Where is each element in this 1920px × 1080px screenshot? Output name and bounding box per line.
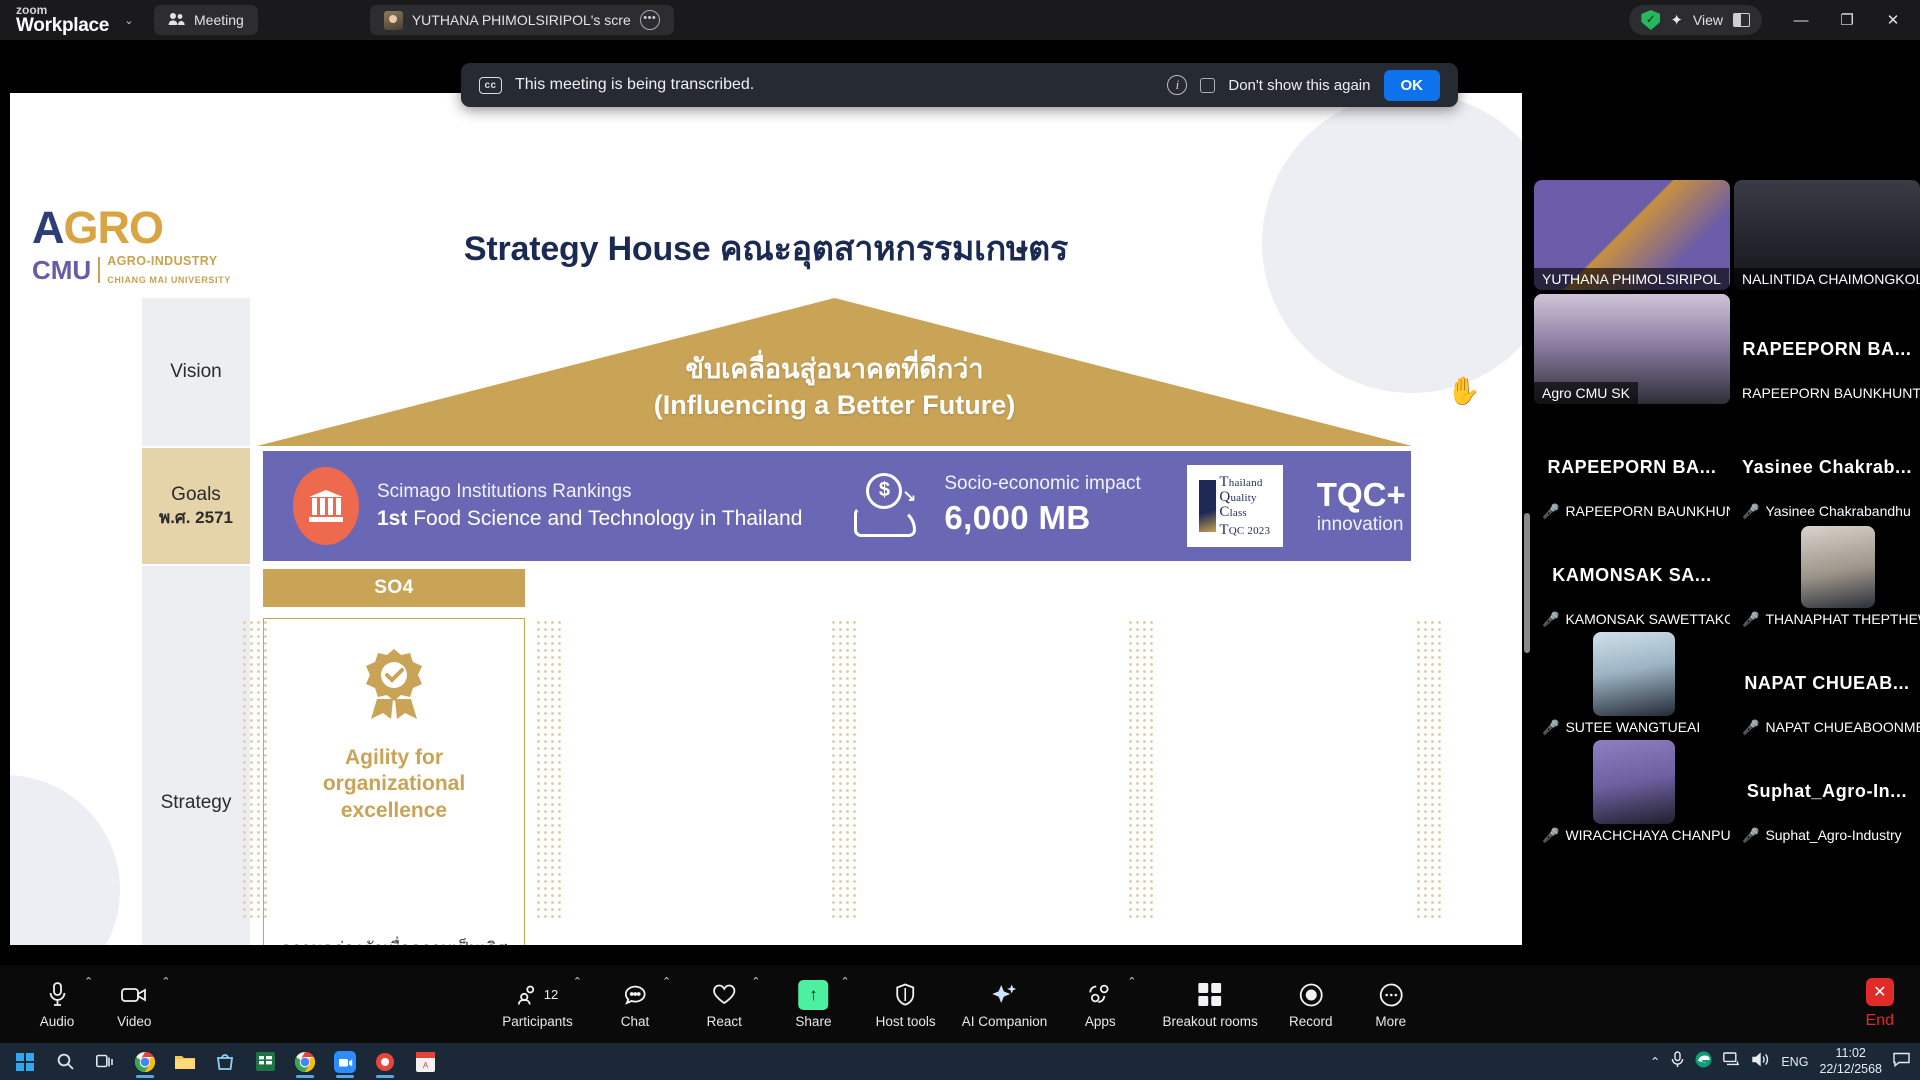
tab-screen-share[interactable]: YUTHANA PHIMOLSIRIPOL's scre ••• [370, 5, 674, 35]
goal-scimago-rank: 1st [377, 507, 407, 530]
mic-off-icon-6: 🎤 [1542, 612, 1559, 626]
participant-video-panel[interactable]: YUTHANA PHIMOLSIRIPOL NALINTIDA CHAIMONG… [1534, 180, 1920, 950]
clock-date: 22/12/2568 [1819, 1062, 1882, 1076]
strategy-column-so4: SO4 Agility for organizational excellenc… [263, 569, 525, 945]
participant-name-label-5: Yasinee Chakrabandhu [1765, 503, 1910, 519]
so4-description: ความคล่องตัวเพื่อความเป็นเลิศขององค์กร [278, 937, 510, 945]
heart-icon [712, 980, 736, 1010]
audio-label: Audio [40, 1014, 75, 1029]
logo-cmu-text: CMU [32, 257, 91, 283]
language-indicator[interactable]: ENG [1781, 1055, 1808, 1069]
mic-off-icon-4: 🎤 [1542, 504, 1559, 518]
participant-name-4: 🎤 RAPEEPORN BAUNKHUNT... [1534, 500, 1730, 522]
participants-button[interactable]: 12 Participants [502, 969, 573, 1039]
presentation-slide: AGRO CMU AGRO-INDUSTRY CHIANG MAI UNIVER… [10, 93, 1522, 945]
host-tools-label: Host tools [876, 1014, 936, 1029]
restore-button[interactable]: ❐ [1824, 0, 1870, 40]
toast-message: This meeting is being transcribed. [515, 76, 754, 94]
record-circle-icon [1299, 980, 1323, 1010]
screen-share-avatar [384, 11, 403, 30]
shield-check-icon[interactable] [1641, 10, 1660, 30]
tray-chevron-up-icon[interactable]: ⌃ [1650, 1054, 1660, 1069]
breakout-rooms-button[interactable]: Breakout rooms [1162, 969, 1257, 1039]
mic-off-icon-11: 🎤 [1742, 828, 1759, 842]
stage-scrollbar[interactable] [1524, 513, 1530, 653]
audio-chevron-up-icon[interactable]: ⌃ [84, 975, 93, 988]
zoom-logo: zoom Workplace [16, 4, 108, 37]
goal-tqc-plus-title: TQC+ [1317, 476, 1406, 514]
react-chevron-up-icon[interactable]: ⌃ [751, 975, 760, 988]
apps-chevron-up-icon[interactable]: ⌃ [1127, 975, 1136, 988]
ellipsis-icon [1379, 980, 1403, 1010]
chat-chevron-up-icon[interactable]: ⌃ [662, 975, 671, 988]
react-button[interactable]: React [697, 969, 751, 1039]
shared-screen-stage[interactable]: AGRO CMU AGRO-INDUSTRY CHIANG MAI UNIVER… [10, 93, 1522, 945]
share-chevron-up-icon[interactable]: ⌃ [840, 975, 849, 988]
share-button[interactable]: ↑ Share [786, 969, 840, 1039]
transcription-notification: cc This meeting is being transcribed. i … [461, 63, 1458, 107]
slide-title: Strategy House คณะอุตสาหกรรมเกษตร [10, 221, 1522, 275]
excel-icon[interactable] [248, 1046, 282, 1077]
chrome-window-icon[interactable] [288, 1046, 322, 1077]
zoom-icon[interactable] [328, 1046, 362, 1077]
tqc-badge-line2: Quality [1219, 490, 1270, 505]
so4-title: Agility for organizational excellence [278, 745, 510, 824]
close-button[interactable]: ✕ [1870, 0, 1916, 40]
grid-squares-icon [1199, 980, 1222, 1010]
so4-code: SO4 [263, 569, 525, 607]
goals-word: Goals [171, 482, 221, 508]
video-button[interactable]: Video [107, 969, 161, 1039]
more-label: More [1375, 1014, 1406, 1029]
participant-tile-0[interactable]: YUTHANA PHIMOLSIRIPOL [1534, 180, 1730, 290]
people-icon [168, 12, 185, 29]
goal-socio-economic: $↘ Socio-economic impact 6,000 MB [854, 472, 1140, 540]
apps-icon [1088, 980, 1112, 1010]
end-meeting-button[interactable]: ✕ End [1866, 978, 1894, 1030]
goal-scimago-field: Food Science and Technology in Thailand [413, 507, 802, 530]
record-button[interactable]: Record [1284, 969, 1338, 1039]
mic-off-icon-5: 🎤 [1742, 504, 1759, 518]
more-button[interactable]: More [1364, 969, 1418, 1039]
participant-name-0: YUTHANA PHIMOLSIRIPOL [1534, 268, 1729, 290]
audio-button[interactable]: Audio [30, 969, 84, 1039]
tqc-badge-line1: Thailand [1219, 475, 1270, 490]
search-icon[interactable] [48, 1046, 82, 1077]
pdf-icon[interactable]: A [408, 1046, 442, 1077]
clock[interactable]: 11:02 22/12/2568 [1819, 1046, 1882, 1077]
edge-icon[interactable] [1695, 1051, 1712, 1073]
hand-cursor-icon: ✋ [1447, 375, 1481, 407]
participant-avatar-8 [1593, 632, 1675, 716]
participant-name-6: 🎤 KAMONSAK SAWETTAKOON [1534, 608, 1730, 630]
minimize-button[interactable]: — [1778, 0, 1824, 40]
brand-chevron-down-icon[interactable]: ⌄ [114, 5, 144, 35]
breakout-rooms-label: Breakout rooms [1162, 1014, 1257, 1029]
host-tools-button[interactable]: Host tools [876, 969, 936, 1039]
tab-screen-share-label: YUTHANA PHIMOLSIRIPOL's scre [412, 12, 631, 28]
ai-companion-label: AI Companion [962, 1014, 1048, 1029]
chat-bubble-icon [624, 980, 646, 1010]
participant-name-label-11: Suphat_Agro-Industry [1765, 827, 1901, 843]
chrome-icon[interactable] [128, 1046, 162, 1077]
agro-cmu-logo: AGRO CMU AGRO-INDUSTRY CHIANG MAI UNIVER… [32, 205, 231, 289]
tqc-badge-line3: Class [1219, 505, 1270, 520]
participant-name-7: 🎤 THANAPHAT THEPTHEWIN [1734, 608, 1920, 630]
tab-more-options-icon[interactable]: ••• [640, 10, 660, 30]
windows-taskbar: A ⌃ ENG 11:02 22/12/2568 [0, 1043, 1920, 1080]
participant-tile-6[interactable]: KAMONSAK SA... 🎤 KAMONSAK SAWETTAKOON [1534, 520, 1730, 630]
mic-off-icon-10: 🎤 [1542, 828, 1559, 842]
volume-icon[interactable] [1752, 1052, 1770, 1072]
participant-tile-2[interactable]: Agro CMU SK [1534, 294, 1730, 404]
camera-icon [121, 980, 147, 1010]
brand-line-workplace: Workplace [16, 16, 108, 36]
participant-name-1: NALINTIDA CHAIMONGKOL [1734, 268, 1920, 290]
goals-band: Scimago Institutions Rankings 1st Food S… [263, 451, 1411, 561]
video-label: Video [117, 1014, 151, 1029]
network-icon[interactable] [1723, 1052, 1741, 1072]
info-icon[interactable]: i [1167, 75, 1187, 95]
file-explorer-icon[interactable] [168, 1046, 202, 1077]
store-icon[interactable] [208, 1046, 242, 1077]
zoom-title-bar: zoom Workplace ⌄ Meeting YUTHANA PHIMOLS… [0, 0, 1920, 40]
chat-button[interactable]: Chat [608, 969, 662, 1039]
goal-impact-label: Socio-economic impact [944, 473, 1140, 494]
view-layout-icon[interactable] [1733, 13, 1750, 27]
share-label: Share [795, 1014, 831, 1029]
participant-tile-10[interactable]: 🎤 WIRACHCHAYA CHANPUYP... [1534, 736, 1730, 846]
row-label-strategy: Strategy [142, 566, 250, 945]
dot-pattern-3 [1127, 619, 1153, 919]
participant-name-5: 🎤 Yasinee Chakrabandhu [1734, 500, 1919, 522]
ai-companion-button[interactable]: AI Companion [962, 969, 1048, 1039]
share-screen-icon: ↑ [798, 980, 828, 1010]
notification-center-icon[interactable] [1893, 1052, 1910, 1072]
dot-pattern-2 [830, 619, 856, 919]
shield-icon [896, 980, 916, 1010]
goal-tqc-plus-subtitle: innovation [1317, 514, 1406, 536]
task-view-icon[interactable] [88, 1046, 122, 1077]
participant-name-11: 🎤 Suphat_Agro-Industry [1734, 824, 1910, 846]
titlebar-status-pill: ✦ View [1629, 5, 1762, 35]
participant-name-label-6: KAMONSAK SAWETTAKOON [1565, 611, 1730, 627]
row-label-vision: Vision [142, 298, 250, 446]
participant-name-9: 🎤 NAPAT CHUEABOONMEE [1734, 716, 1920, 738]
svg-text:A: A [422, 1061, 428, 1070]
end-label: End [1866, 1012, 1894, 1030]
tqc-badge-emblem [1199, 480, 1216, 532]
dot-pattern-1 [535, 619, 561, 919]
apps-button[interactable]: Apps [1073, 969, 1127, 1039]
sparkle-ai-icon[interactable]: ✦ [1670, 11, 1683, 29]
tqc-badge-year: TQC 2023 [1219, 523, 1270, 538]
participant-name-label-8: SUTEE WANGTUEAI [1565, 719, 1700, 735]
row-label-goals: Goals พ.ศ. 2571 [142, 448, 250, 564]
goal-tqc-plus: TQC+ innovation [1317, 476, 1406, 536]
participant-name-label-10: WIRACHCHAYA CHANPUYP... [1565, 827, 1730, 843]
mic-off-icon-9: 🎤 [1742, 720, 1759, 734]
vision-text-english: (Influencing a Better Future) [257, 387, 1412, 423]
sparkle-icon [991, 980, 1017, 1010]
hand-coin-icon: $↘ [854, 473, 926, 539]
end-call-icon: ✕ [1866, 978, 1894, 1006]
apps-label: Apps [1085, 1014, 1116, 1029]
logo-subtitle-1: AGRO-INDUSTRY [107, 254, 217, 268]
tqc-award-badge: Thailand Quality Class TQC 2023 [1187, 465, 1283, 547]
participant-tile-9[interactable]: NAPAT CHUEAB... 🎤 NAPAT CHUEABOONMEE [1734, 628, 1920, 738]
meeting-toolbar: Audio ⌃ Video ⌃ 12 [0, 965, 1920, 1043]
vision-text: ขับเคลื่อนสู่อนาคตที่ดีกว่า (Influencing… [257, 351, 1412, 423]
participant-tile-8[interactable]: 🎤 SUTEE WANGTUEAI [1534, 628, 1730, 738]
participants-chevron-up-icon[interactable]: ⌃ [573, 975, 582, 988]
strategy-columns: SO1 Innovators driving AGRO-industry to … [263, 569, 1411, 945]
dont-show-again-checkbox[interactable] [1200, 78, 1215, 93]
clock-time: 11:02 [1836, 1046, 1866, 1060]
award-check-rosette-icon [357, 641, 431, 727]
dont-show-again-label[interactable]: Don't show this again [1228, 77, 1370, 94]
participant-tile-4[interactable]: RAPEEPORN BA... 🎤 RAPEEPORN BAUNKHUNT... [1534, 412, 1730, 522]
participant-name-label-7: THANAPHAT THEPTHEWIN [1765, 611, 1920, 627]
goal-scimago-subtitle: Scimago Institutions Rankings [377, 481, 632, 502]
record-label: Record [1289, 1014, 1333, 1029]
tray-microphone-icon[interactable] [1671, 1051, 1684, 1073]
participant-tile-5[interactable]: Yasinee Chakrab... 🎤 Yasinee Chakrabandh… [1734, 412, 1920, 522]
goal-scimago: Scimago Institutions Rankings 1st Food S… [293, 467, 802, 545]
participant-name-label-4: RAPEEPORN BAUNKHUNT... [1565, 503, 1730, 519]
participant-tile-11[interactable]: Suphat_Agro-In... 🎤 Suphat_Agro-Industry [1734, 736, 1920, 846]
logo-subtitle-2: CHIANG MAI UNIVERSITY [107, 275, 231, 285]
mic-off-icon-7: 🎤 [1742, 612, 1759, 626]
decorative-circle-left [10, 775, 120, 945]
participant-name-2: Agro CMU SK [1534, 382, 1638, 404]
participant-avatar-7 [1801, 526, 1875, 608]
view-button-label[interactable]: View [1693, 12, 1723, 28]
logo-divider [98, 257, 100, 283]
dot-pattern-4 [1415, 619, 1441, 919]
bank-pillar-icon [293, 467, 359, 545]
participant-avatar-10 [1593, 740, 1675, 824]
logo-agro-text: AGRO [32, 205, 163, 250]
tab-meeting-label: Meeting [194, 12, 244, 28]
ok-button[interactable]: OK [1384, 70, 1441, 101]
participant-name-label-9: NAPAT CHUEABOONMEE [1765, 719, 1920, 735]
closed-caption-icon: cc [479, 77, 502, 94]
chat-label: Chat [621, 1014, 650, 1029]
people-icon: 12 [517, 980, 558, 1010]
participant-name-3: RAPEEPORN BAUNKHUNTHOD [1734, 382, 1920, 404]
goal-impact-value: 6,000 MB [944, 499, 1090, 536]
participants-label: Participants [502, 1014, 573, 1029]
react-label: React [707, 1014, 742, 1029]
tab-meeting[interactable]: Meeting [154, 5, 258, 35]
vision-text-thai: ขับเคลื่อนสู่อนาคตที่ดีกว่า [257, 351, 1412, 387]
participant-tile-7[interactable]: 🎤 THANAPHAT THEPTHEWIN [1734, 520, 1920, 630]
participant-tile-3[interactable]: RAPEEPORN BA... RAPEEPORN BAUNKHUNTHOD [1734, 294, 1920, 404]
dot-pattern-0 [241, 619, 267, 919]
video-chevron-up-icon[interactable]: ⌃ [161, 975, 170, 988]
participant-name-10: 🎤 WIRACHCHAYA CHANPUYP... [1534, 824, 1730, 846]
goals-year: พ.ศ. 2571 [159, 507, 233, 530]
recorder-icon[interactable] [368, 1046, 402, 1077]
microphone-icon [49, 980, 66, 1010]
mic-off-icon-8: 🎤 [1542, 720, 1559, 734]
participant-name-8: 🎤 SUTEE WANGTUEAI [1534, 716, 1708, 738]
start-windows-icon[interactable] [8, 1046, 42, 1077]
participant-tile-1[interactable]: NALINTIDA CHAIMONGKOL [1734, 180, 1920, 290]
participants-count: 12 [544, 987, 558, 1002]
